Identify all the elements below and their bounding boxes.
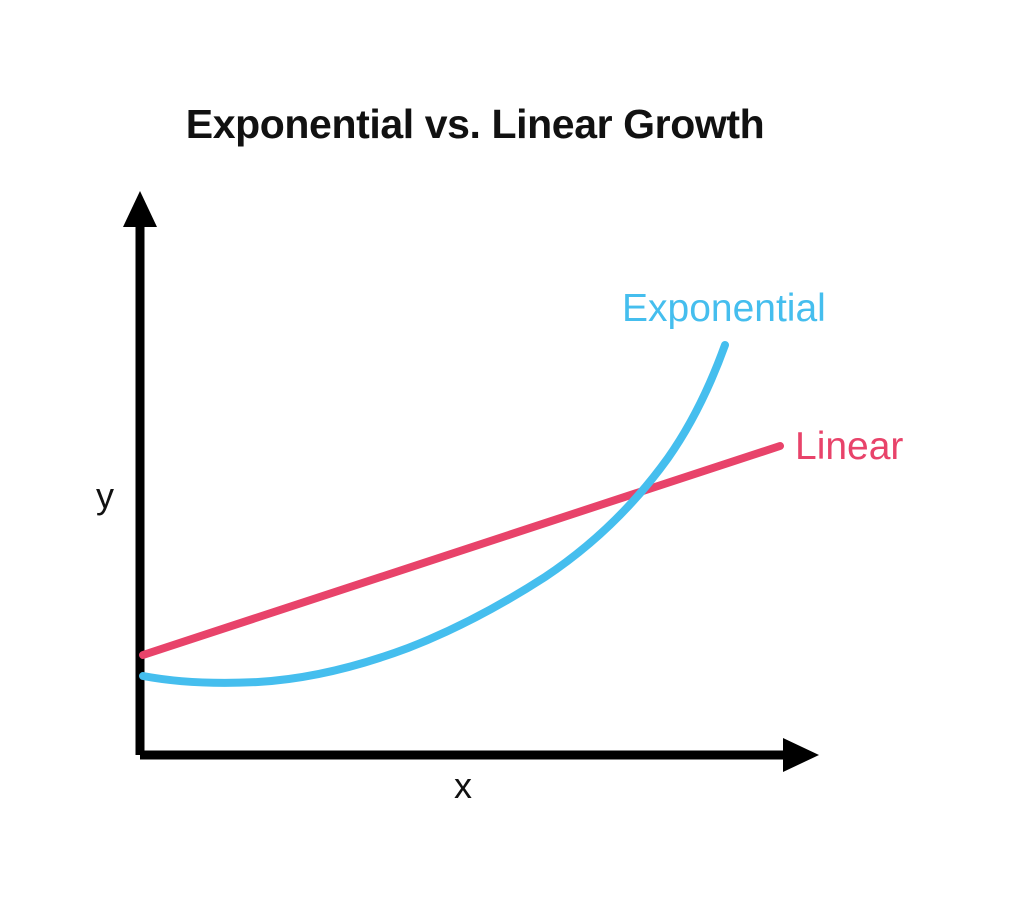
y-axis-label: y [96,475,114,516]
legend-label-exponential: Exponential [622,287,826,330]
x-axis-arrow-icon [783,738,819,772]
chart-title: Exponential vs. Linear Growth [186,101,764,147]
legend-label-linear: Linear [795,425,903,468]
y-axis-arrow-icon [123,191,157,227]
chart-canvas: Exponential vs. Linear Growth y x Expone… [0,0,1024,899]
exponential-series-curve [143,345,725,683]
chart-figure: Exponential vs. Linear Growth y x Expone… [0,0,1024,899]
x-axis-label: x [454,765,472,806]
